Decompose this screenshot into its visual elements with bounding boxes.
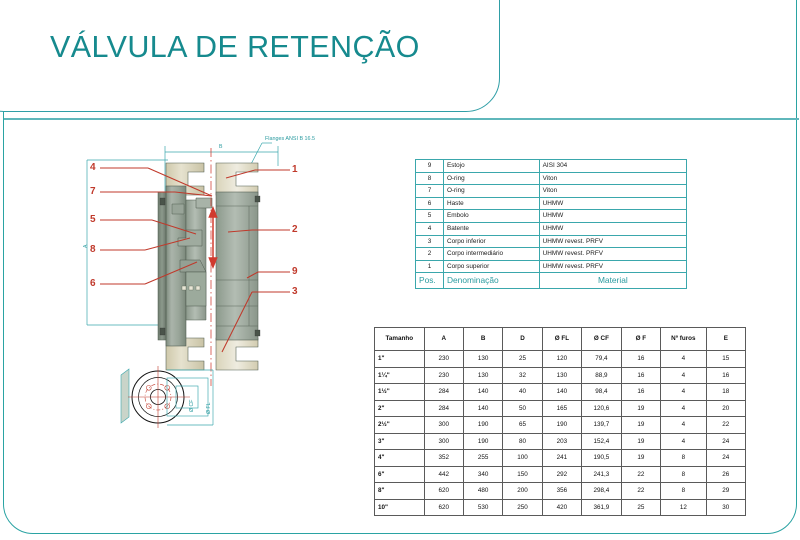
dimensions-cell: 8 bbox=[661, 483, 707, 500]
dimensions-header-row: TamanhoABDØ FLØ CFØ FNº furosE bbox=[375, 328, 746, 351]
parts-cell-material: UHMW revest. PRFV bbox=[539, 260, 686, 273]
dimensions-cell: 30 bbox=[706, 499, 745, 516]
dimensions-cell: 130 bbox=[463, 367, 502, 384]
parts-cell-material: Viton bbox=[539, 172, 686, 185]
dimensions-cell: 356 bbox=[542, 483, 581, 500]
dimensions-cell: 4 bbox=[661, 400, 707, 417]
parts-row: 9EstojoAISI 304 bbox=[416, 160, 687, 173]
parts-row: 1Corpo superiorUHMW revest. PRFV bbox=[416, 260, 687, 273]
dimensions-cell: 241 bbox=[542, 450, 581, 467]
parts-cell-material: UHMW bbox=[539, 197, 686, 210]
dimensions-row: 8"620480200356298,422829 bbox=[375, 483, 746, 500]
dimensions-cell: 150 bbox=[503, 466, 542, 483]
dimensions-cell: 18 bbox=[706, 384, 745, 401]
dimensions-cell: 298,4 bbox=[582, 483, 622, 500]
parts-cell-pos: 4 bbox=[416, 222, 444, 235]
callout-right-3: 9 bbox=[292, 267, 298, 277]
dimensions-cell: 140 bbox=[463, 384, 502, 401]
dimensions-cell: 50 bbox=[503, 400, 542, 417]
dimensions-cell: 8 bbox=[661, 450, 707, 467]
parts-cell-pos: 6 bbox=[416, 197, 444, 210]
dimensions-cell: 203 bbox=[542, 433, 581, 450]
dimensions-cell: 16 bbox=[621, 351, 660, 368]
dimensions-row: 3"30019080203152,419424 bbox=[375, 433, 746, 450]
dimensions-cell: 230 bbox=[424, 351, 463, 368]
dimensions-cell: 4 bbox=[661, 433, 707, 450]
parts-cell-pos: 2 bbox=[416, 248, 444, 261]
dimensions-column-header: Ø FL bbox=[542, 328, 581, 351]
parts-row: 6HasteUHMW bbox=[416, 197, 687, 210]
dimensions-cell: 19 bbox=[621, 417, 660, 434]
dimensions-row: 4"352255100241190,519824 bbox=[375, 450, 746, 467]
dimensions-cell: 4 bbox=[661, 367, 707, 384]
dimensions-cell: 4 bbox=[661, 417, 707, 434]
dimension-label-b: B bbox=[219, 145, 222, 150]
dimensions-cell: 352 bbox=[424, 450, 463, 467]
dimensions-cell: 130 bbox=[542, 367, 581, 384]
dimensions-cell: 100 bbox=[503, 450, 542, 467]
dimension-label-a: A bbox=[84, 245, 89, 248]
dimensions-cell: 255 bbox=[463, 450, 502, 467]
parts-cell-pos: 9 bbox=[416, 160, 444, 173]
dimensions-cell: 15 bbox=[706, 351, 745, 368]
dimensions-cell: 442 bbox=[424, 466, 463, 483]
valve-drawing-svg bbox=[0, 120, 400, 540]
parts-cell-denominacao: Corpo superior bbox=[443, 260, 539, 273]
parts-cell-material: AISI 304 bbox=[539, 160, 686, 173]
dimensions-cell: 20 bbox=[706, 400, 745, 417]
parts-cell-denominacao: Embolo bbox=[443, 210, 539, 223]
dimensions-cell: 12 bbox=[661, 499, 707, 516]
callout-left-1: 4 bbox=[90, 163, 96, 173]
parts-cell-denominacao: O-ring bbox=[443, 172, 539, 185]
dimensions-cell: 79,4 bbox=[582, 351, 622, 368]
parts-list-table: 9EstojoAISI 3048O-ringViton7O-ringViton6… bbox=[415, 159, 687, 289]
dimensions-cell: 19 bbox=[621, 433, 660, 450]
dimensions-cell: 65 bbox=[503, 417, 542, 434]
dimensions-cell: 3" bbox=[375, 433, 425, 450]
dimensions-cell: 300 bbox=[424, 417, 463, 434]
dimensions-cell: 241,3 bbox=[582, 466, 622, 483]
dimensions-cell: 22 bbox=[621, 466, 660, 483]
dimensions-cell: 480 bbox=[463, 483, 502, 500]
dimensions-cell: 25 bbox=[503, 351, 542, 368]
dimensions-cell: 190 bbox=[463, 433, 502, 450]
dimensions-cell: 300 bbox=[424, 433, 463, 450]
parts-cell-material: UHMW revest. PRFV bbox=[539, 235, 686, 248]
dimensions-row: 1¼"2301303213088,916416 bbox=[375, 367, 746, 384]
dimensions-cell: 530 bbox=[463, 499, 502, 516]
dimensions-cell: 1¼" bbox=[375, 367, 425, 384]
dimensions-cell: 140 bbox=[542, 384, 581, 401]
dimensions-row: 6"442340150292241,322826 bbox=[375, 466, 746, 483]
dimensions-cell: 32 bbox=[503, 367, 542, 384]
dimensions-row: 1"2301302512079,416415 bbox=[375, 351, 746, 368]
parts-cell-pos: 7 bbox=[416, 185, 444, 198]
dimensions-cell: 340 bbox=[463, 466, 502, 483]
dimensions-row: 2½"30019065190139,719422 bbox=[375, 417, 746, 434]
callout-left-5: 6 bbox=[90, 279, 96, 289]
dimensions-cell: 361,9 bbox=[582, 499, 622, 516]
callout-right-2: 2 bbox=[292, 225, 298, 235]
dimensions-column-header: D bbox=[503, 328, 542, 351]
callout-left-4: 8 bbox=[90, 245, 96, 255]
dimensions-cell: 80 bbox=[503, 433, 542, 450]
dimensions-cell: 620 bbox=[424, 483, 463, 500]
callout-right-4: 3 bbox=[292, 287, 298, 297]
dimensions-cell: 10" bbox=[375, 499, 425, 516]
callout-right-1: 1 bbox=[292, 165, 298, 175]
dimensions-cell: 152,4 bbox=[582, 433, 622, 450]
dimensions-cell: 190,5 bbox=[582, 450, 622, 467]
parts-row: 3Corpo inferiorUHMW revest. PRFV bbox=[416, 235, 687, 248]
parts-row: 5EmboloUHMW bbox=[416, 210, 687, 223]
flange-standard-annotation: Flanges ANSI B 16.5 bbox=[265, 137, 315, 142]
dimensions-column-header: A bbox=[424, 328, 463, 351]
drawing-sheet: VÁLVULA DE RETENÇÃO bbox=[0, 0, 800, 540]
dimensions-cell: 420 bbox=[542, 499, 581, 516]
dimensions-cell: 4 bbox=[661, 384, 707, 401]
dimensions-cell: 165 bbox=[542, 400, 581, 417]
dimensions-cell: 130 bbox=[463, 351, 502, 368]
dimensions-cell: 16 bbox=[706, 367, 745, 384]
parts-cell-material: UHMW bbox=[539, 210, 686, 223]
dimensions-cell: 22 bbox=[621, 483, 660, 500]
parts-cell-denominacao: Corpo intermediário bbox=[443, 248, 539, 261]
parts-row: 2Corpo intermediárioUHMW revest. PRFV bbox=[416, 248, 687, 261]
dimensions-cell: 29 bbox=[706, 483, 745, 500]
dimensions-column-header: B bbox=[463, 328, 502, 351]
dimensions-cell: 190 bbox=[542, 417, 581, 434]
dimensions-cell: 292 bbox=[542, 466, 581, 483]
parts-cell-material: UHMW bbox=[539, 222, 686, 235]
dimensions-cell: 2" bbox=[375, 400, 425, 417]
dimensions-row: 2"28414050165120,619420 bbox=[375, 400, 746, 417]
dimensions-column-header: Tamanho bbox=[375, 328, 425, 351]
dimensions-row: 1½"2841404014098,416418 bbox=[375, 384, 746, 401]
dimensions-cell: 8" bbox=[375, 483, 425, 500]
dimensions-cell: 16 bbox=[621, 367, 660, 384]
dimensions-table: TamanhoABDØ FLØ CFØ FNº furosE 1"2301302… bbox=[374, 327, 746, 516]
dimensions-cell: 88,9 bbox=[582, 367, 622, 384]
parts-cell-pos: 1 bbox=[416, 260, 444, 273]
dimensions-cell: 2½" bbox=[375, 417, 425, 434]
dimensions-column-header: Nº furos bbox=[661, 328, 707, 351]
parts-cell-denominacao: Batente bbox=[443, 222, 539, 235]
dimensions-cell: 284 bbox=[424, 400, 463, 417]
dimensions-cell: 190 bbox=[463, 417, 502, 434]
dimensions-cell: 19 bbox=[621, 400, 660, 417]
dimensions-cell: 120,6 bbox=[582, 400, 622, 417]
dimensions-cell: 6" bbox=[375, 466, 425, 483]
dimensions-cell: 120 bbox=[542, 351, 581, 368]
dimensions-cell: 98,4 bbox=[582, 384, 622, 401]
page-title: VÁLVULA DE RETENÇÃO bbox=[50, 30, 420, 65]
dimensions-cell: 4" bbox=[375, 450, 425, 467]
parts-row: 4BatenteUHMW bbox=[416, 222, 687, 235]
dimensions-cell: 1" bbox=[375, 351, 425, 368]
dimensions-column-header: E bbox=[706, 328, 745, 351]
parts-cell-material: UHMW revest. PRFV bbox=[539, 248, 686, 261]
parts-cell-pos: 8 bbox=[416, 172, 444, 185]
dimensions-cell: 1½" bbox=[375, 384, 425, 401]
valve-section-drawing: Flanges ANSI B 16.5 B A Ø CF Ø FL 4 7 5 … bbox=[0, 120, 400, 540]
dimensions-cell: 16 bbox=[621, 384, 660, 401]
dimensions-cell: 284 bbox=[424, 384, 463, 401]
parts-cell-denominacao: Corpo inferior bbox=[443, 235, 539, 248]
detail-label-fl: Ø FL bbox=[207, 402, 212, 414]
parts-footer-pos: Pos. bbox=[416, 273, 444, 289]
parts-cell-pos: 5 bbox=[416, 210, 444, 223]
dimensions-column-header: Ø CF bbox=[582, 328, 622, 351]
dimensions-column-header: Ø F bbox=[621, 328, 660, 351]
dimensions-cell: 24 bbox=[706, 433, 745, 450]
dimensions-row: 10"620530250420361,9251230 bbox=[375, 499, 746, 516]
parts-row: 8O-ringViton bbox=[416, 172, 687, 185]
dimensions-cell: 25 bbox=[621, 499, 660, 516]
dimensions-cell: 40 bbox=[503, 384, 542, 401]
callout-left-2: 7 bbox=[90, 187, 96, 197]
dimensions-cell: 620 bbox=[424, 499, 463, 516]
dimensions-cell: 8 bbox=[661, 466, 707, 483]
dimensions-cell: 26 bbox=[706, 466, 745, 483]
dimensions-cell: 140 bbox=[463, 400, 502, 417]
parts-footer-row: Pos.DenominaçãoMaterial bbox=[416, 273, 687, 289]
parts-footer-material: Material bbox=[539, 273, 686, 289]
dimensions-cell: 250 bbox=[503, 499, 542, 516]
parts-cell-pos: 3 bbox=[416, 235, 444, 248]
dimensions-cell: 4 bbox=[661, 351, 707, 368]
parts-footer-denominacao: Denominação bbox=[443, 273, 539, 289]
dimensions-cell: 139,7 bbox=[582, 417, 622, 434]
dimensions-cell: 230 bbox=[424, 367, 463, 384]
dimensions-cell: 24 bbox=[706, 450, 745, 467]
parts-cell-material: Viton bbox=[539, 185, 686, 198]
callout-left-3: 5 bbox=[90, 215, 96, 225]
parts-cell-denominacao: Estojo bbox=[443, 160, 539, 173]
parts-row: 7O-ringViton bbox=[416, 185, 687, 198]
parts-cell-denominacao: Haste bbox=[443, 197, 539, 210]
dimensions-cell: 19 bbox=[621, 450, 660, 467]
dimensions-cell: 200 bbox=[503, 483, 542, 500]
dimensions-cell: 22 bbox=[706, 417, 745, 434]
detail-label-cf: Ø CF bbox=[190, 400, 195, 412]
parts-cell-denominacao: O-ring bbox=[443, 185, 539, 198]
